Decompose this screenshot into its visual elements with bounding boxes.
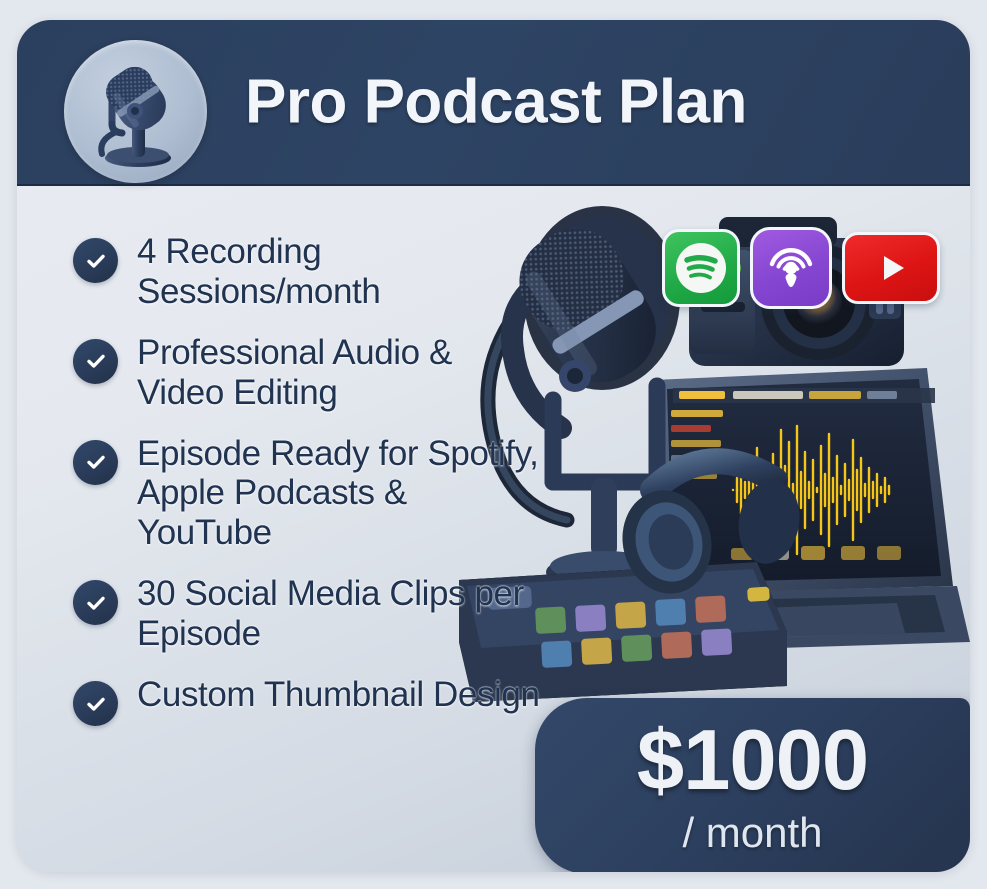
- feature-label: Professional Audio & Video Editing: [137, 333, 543, 413]
- price-amount: $1000: [637, 718, 868, 803]
- spotify-glyph: [673, 240, 729, 296]
- laptop-audio-editor-illustration: [633, 368, 970, 652]
- apple-podcasts-icon[interactable]: [750, 227, 832, 309]
- pricing-card: Pro Podcast Plan: [17, 20, 970, 872]
- youtube-play-glyph: [869, 246, 913, 290]
- feature-label: Custom Thumbnail Design: [137, 675, 540, 715]
- check-icon: [73, 339, 118, 384]
- headphones-illustration: [612, 461, 806, 603]
- list-item: Episode Ready for Spotify, Apple Podcast…: [73, 434, 543, 554]
- platform-icon-row: [662, 227, 940, 309]
- spotify-icon[interactable]: [662, 229, 740, 307]
- microphone-logo-badge: [64, 40, 207, 183]
- feature-label: 4 Recording Sessions/month: [137, 232, 543, 312]
- price-badge: $1000 / month: [535, 698, 970, 872]
- waveform-bars: [733, 426, 889, 554]
- feature-label: 30 Social Media Clips per Episode: [137, 574, 543, 654]
- feature-list: 4 Recording Sessions/month Professional …: [73, 232, 543, 726]
- check-icon: [73, 238, 118, 283]
- card-header: Pro Podcast Plan: [17, 20, 970, 186]
- check-icon: [73, 580, 118, 625]
- list-item: 4 Recording Sessions/month: [73, 232, 543, 312]
- page-title: Pro Podcast Plan: [245, 67, 747, 138]
- list-item: Custom Thumbnail Design: [73, 675, 543, 726]
- apple-podcasts-glyph: [762, 238, 820, 298]
- check-icon: [73, 440, 118, 485]
- check-icon: [73, 681, 118, 726]
- price-period: / month: [682, 812, 822, 854]
- microphone-icon: [64, 40, 207, 183]
- feature-label: Episode Ready for Spotify, Apple Podcast…: [137, 434, 543, 554]
- youtube-icon[interactable]: [842, 232, 940, 304]
- list-item: Professional Audio & Video Editing: [73, 333, 543, 413]
- mixer-button-grid: [535, 595, 732, 668]
- pop-filter-illustration: [524, 206, 680, 390]
- list-item: 30 Social Media Clips per Episode: [73, 574, 543, 654]
